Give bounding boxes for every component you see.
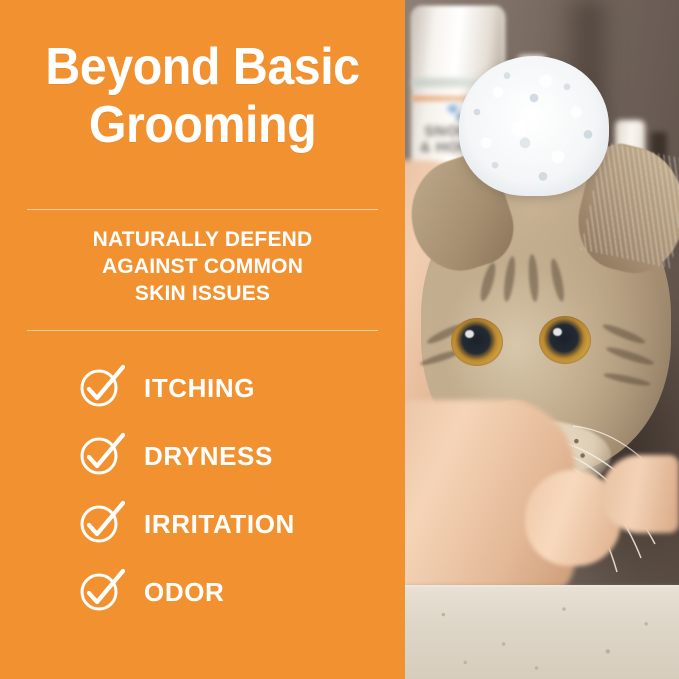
list-item: ODOR: [78, 570, 398, 615]
counter-surface: [405, 585, 679, 679]
person-finger: [601, 455, 679, 533]
subtitle: NATURALLY DEFEND AGAINST COMMON SKIN ISS…: [0, 227, 405, 308]
shampoo-foam-bubbles: [459, 56, 609, 196]
subtitle-line-3: SKIN ISSUES: [0, 281, 405, 308]
benefit-label: ODOR: [144, 577, 224, 608]
list-item: IRRITATION: [78, 502, 398, 547]
check-circle-icon: [78, 366, 126, 411]
check-circle-icon: [78, 434, 126, 479]
check-circle-icon: [78, 570, 126, 615]
benefit-list: ITCHING DRYNESS IRRITA: [78, 366, 398, 638]
benefit-label: IRRITATION: [144, 509, 295, 540]
shampoo-jar-lid: [413, 6, 503, 78]
benefit-label: ITCHING: [144, 373, 255, 404]
list-item: ITCHING: [78, 366, 398, 411]
product-photo: 🐾 SNOUTS & HONOR: [405, 0, 679, 679]
headline-line-2: Grooming: [14, 96, 391, 154]
check-circle-icon: [78, 502, 126, 547]
page-title: Beyond Basic Grooming: [14, 38, 391, 154]
headline-line-1: Beyond Basic: [14, 38, 391, 96]
subtitle-line-1: NATURALLY DEFEND: [0, 227, 405, 254]
list-item: DRYNESS: [78, 434, 398, 479]
divider-bottom: [27, 330, 378, 331]
benefit-label: DRYNESS: [144, 441, 273, 472]
copy-panel: Beyond Basic Grooming NATURALLY DEFEND A…: [0, 0, 405, 679]
subtitle-line-2: AGAINST COMMON: [0, 254, 405, 281]
product-benefit-card: Beyond Basic Grooming NATURALLY DEFEND A…: [0, 0, 679, 679]
divider-top: [27, 209, 378, 210]
